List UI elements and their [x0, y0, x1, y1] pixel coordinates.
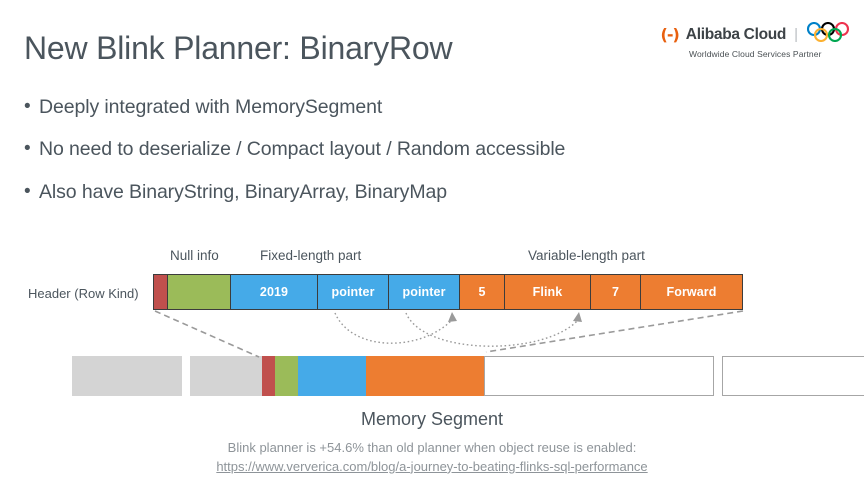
page-title: New Blink Planner: BinaryRow	[24, 30, 452, 67]
var-length-7-cell: 7	[590, 274, 640, 310]
list-item: • Deeply integrated with MemorySegment	[24, 97, 565, 117]
var-value-flink-cell: Flink	[504, 274, 590, 310]
performance-note-text: Blink planner is +54.6% than old planner…	[228, 440, 637, 455]
logo-brand-text: Alibaba Cloud	[686, 26, 786, 44]
logo-separator: |	[794, 26, 798, 43]
null-info-cell	[167, 274, 230, 310]
olympic-rings-icon	[806, 22, 850, 47]
header-row-kind-label: Header (Row Kind)	[28, 286, 139, 301]
bullet-text: No need to deserialize / Compact layout …	[39, 139, 565, 159]
list-item: • No need to deserialize / Compact layou…	[24, 139, 565, 159]
bullet-dot-icon: •	[24, 139, 39, 159]
memory-block-variable	[366, 356, 484, 396]
section-label-0: Null info	[170, 248, 219, 263]
slide: (-) Alibaba Cloud | Worldwide Cloud Serv…	[0, 0, 864, 481]
header-row-kind-cell	[153, 274, 167, 310]
bullet-text: Deeply integrated with MemorySegment	[39, 97, 382, 117]
bullet-text: Also have BinaryString, BinaryArray, Bin…	[39, 182, 447, 202]
fixed-value-2019-cell: 2019	[230, 274, 317, 310]
section-label-1: Fixed-length part	[260, 248, 361, 263]
memory-block-used-1	[72, 356, 182, 396]
memory-block-nullinfo	[275, 356, 298, 396]
bullet-dot-icon: •	[24, 182, 39, 202]
alibaba-cloud-logo: (-) Alibaba Cloud | Worldwide Cloud Serv…	[661, 22, 850, 59]
alibaba-cloud-mark-icon: (-)	[661, 25, 679, 44]
fixed-pointer-2-cell: pointer	[388, 274, 459, 310]
memory-segment-title: Memory Segment	[0, 409, 864, 430]
var-value-forward-cell: Forward	[640, 274, 743, 310]
logo-tagline: Worldwide Cloud Services Partner	[661, 49, 850, 59]
var-length-5-cell: 5	[459, 274, 504, 310]
fixed-pointer-1-cell: pointer	[317, 274, 388, 310]
logo-top-row: (-) Alibaba Cloud |	[661, 22, 850, 47]
memory-block-header	[262, 356, 275, 396]
section-label-2: Variable-length part	[528, 248, 645, 263]
blog-link[interactable]: https://www.ververica.com/blog/a-journey…	[216, 459, 647, 474]
memory-block-fixed	[298, 356, 366, 396]
memory-segment-strip	[0, 356, 864, 396]
performance-note: Blink planner is +54.6% than old planner…	[0, 439, 864, 477]
list-item: • Also have BinaryString, BinaryArray, B…	[24, 182, 565, 202]
binary-row-strip: 2019pointerpointer5Flink7Forward	[153, 274, 743, 310]
memory-block-used-2	[190, 356, 262, 396]
memory-block-free-2	[722, 356, 864, 396]
bullet-dot-icon: •	[24, 97, 39, 117]
memory-block-free-1	[484, 356, 714, 396]
bullet-list: • Deeply integrated with MemorySegment •…	[24, 97, 565, 224]
